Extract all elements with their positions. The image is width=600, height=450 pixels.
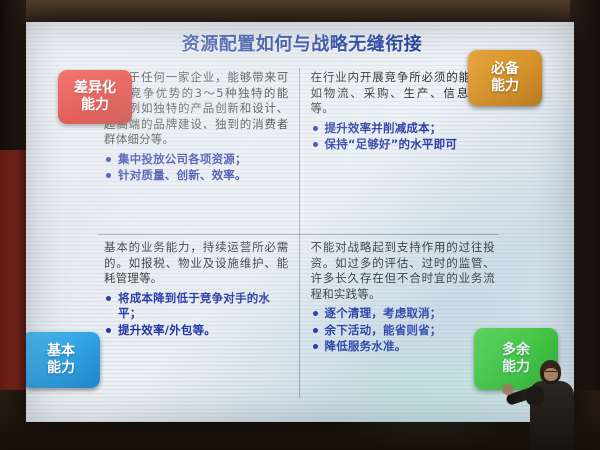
list-item: 提升效率/外包等。 [104,323,289,339]
photo-stage: 资源配置如何与战略无缝衔接 有别于任何一家企业，能够带来可持续竞争优势的3～5种… [0,0,600,450]
quadrant-bullet-list: 逐个清理，考虑取消； 余下活动，能省则省； 降低服务水准。 [311,306,496,355]
bullet-text: 余下活动，能省则省； [325,323,442,337]
badge-line-2: 能力 [47,360,75,377]
bullet-text: 针对质量、创新、效率。 [118,168,247,182]
quadrant-bullet-list: 集中投放公司各项资源； 针对质量、创新、效率。 [104,152,289,184]
bullet-text: 提升效率/外包等。 [118,323,216,337]
list-item: 逐个清理，考虑取消； [311,306,496,322]
presenter-shoulder [526,386,544,406]
presentation-slide: 资源配置如何与战略无缝衔接 有别于任何一家企业，能够带来可持续竞争优势的3～5种… [26,22,574,422]
bullet-dot-icon [106,173,111,178]
bullet-text: 集中投放公司各项资源； [118,152,247,166]
presenter-glasses-icon [545,371,557,376]
quadrant-basic: 基本的业务能力，持续运营所必需的。如报税、物业及设施维护、能耗管理等。 将成本降… [96,236,299,402]
badge-differentiating-capability: 差异化 能力 [58,70,132,124]
quadrant-bullet-list: 提升效率并削减成本； 保持“足够好”的水平即可 [311,121,496,153]
list-item: 将成本降到低于竞争对手的水平； [104,291,289,322]
quadrant-surplus: 不能对战略起到支持作用的过往投资。如过多的评估、过时的监管、许多长久存在但不合时… [299,236,502,402]
bullet-dot-icon [313,328,318,333]
quadrant-matrix: 有别于任何一家企业，能够带来可持续竞争优势的3～5种独特的能力。例如独特的产品创… [96,66,501,402]
badge-line-1: 基本 [47,343,75,360]
presenter-hand [502,384,514,395]
bullet-text: 将成本降到低于竞争对手的水平； [118,291,270,321]
presenter-silhouette [524,356,584,450]
bullet-dot-icon [313,311,318,316]
badge-must-have-capability: 必备 能力 [468,50,542,106]
badge-line-2: 能力 [81,97,109,114]
quadrant-paragraph: 不能对战略起到支持作用的过往投资。如过多的评估、过时的监管、许多长久存在但不合时… [311,240,496,302]
bullet-dot-icon [106,157,111,162]
bullet-text: 降低服务水准。 [325,339,407,353]
bullet-dot-icon [313,142,318,147]
bullet-text: 提升效率并削减成本； [325,121,442,135]
quadrant-paragraph: 基本的业务能力，持续运营所必需的。如报税、物业及设施维护、能耗管理等。 [104,240,289,287]
list-item: 余下活动，能省则省； [311,323,496,339]
matrix-horizontal-divider [98,234,499,235]
list-item: 保持“足够好”的水平即可 [311,137,496,153]
bullet-dot-icon [313,344,318,349]
badge-basic-capability: 基本 能力 [26,332,100,388]
list-item: 集中投放公司各项资源； [104,152,289,168]
slide-title-bar: 资源配置如何与战略无缝衔接 [112,30,492,60]
badge-line-2: 能力 [491,78,519,95]
quadrant-bullet-list: 将成本降到低于竞争对手的水平； 提升效率/外包等。 [104,291,289,339]
bullet-text: 保持“足够好”的水平即可 [325,137,458,151]
badge-line-1: 差异化 [74,80,116,97]
slide-title: 资源配置如何与战略无缝衔接 [112,30,492,60]
bullet-dot-icon [313,126,318,131]
list-item: 降低服务水准。 [311,339,496,355]
projection-screen: 资源配置如何与战略无缝衔接 有别于任何一家企业，能够带来可持续竞争优势的3～5种… [26,22,574,422]
list-item: 提升效率并削减成本； [311,121,496,137]
bullet-dot-icon [106,328,111,333]
bullet-dot-icon [106,296,111,301]
list-item: 针对质量、创新、效率。 [104,168,289,184]
bullet-text: 逐个清理，考虑取消； [325,306,442,320]
badge-line-1: 必备 [491,61,519,78]
